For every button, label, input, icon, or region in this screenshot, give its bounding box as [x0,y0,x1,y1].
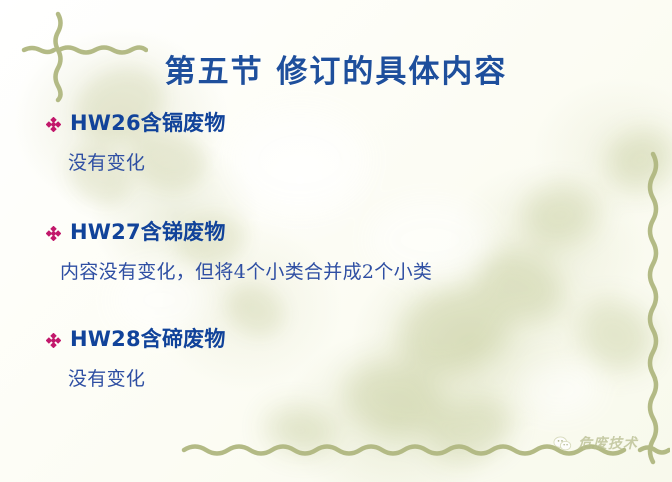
bullet-heading-row: HW28含碲废物 [46,328,632,351]
slide-canvas: 第五节 修订的具体内容 HW26含镉废物 没有变化 [0,0,672,482]
bullet-heading-row: HW26含镉废物 [46,112,632,135]
bullet-detail-text: 内容没有变化，但将4个小类合并成2个小类 [60,257,632,284]
page-title: 第五节 修订的具体内容 [0,46,672,91]
bullet-block-hw27: HW27含锑废物 内容没有变化，但将4个小类合并成2个小类 [46,221,632,284]
bullet-heading-row: HW27含锑废物 [46,221,632,244]
wavy-vertical-border-line [636,150,670,470]
wechat-logo-icon [553,434,572,453]
bullet-block-hw28: HW28含碲废物 没有变化 [46,328,632,391]
diamond-cluster-bullet-icon [46,226,61,241]
wavy-horizontal-border-line [180,438,640,460]
bullet-block-hw26: HW26含镉废物 没有变化 [46,112,632,175]
bullet-detail-text: 没有变化 [68,148,632,175]
diamond-cluster-bullet-icon [46,333,61,348]
bullet-list: HW26含镉废物 没有变化 HW27含锑废物 内容没有变化，但将4个小类合并成2… [46,112,632,391]
bullet-detail-text: 没有变化 [68,364,632,391]
bullet-heading-text: HW28含碲废物 [70,328,226,351]
watermark-text: 危废技术 [578,433,638,453]
diamond-cluster-bullet-icon [46,117,61,132]
bullet-heading-text: HW27含锑废物 [70,221,226,244]
bullet-heading-text: HW26含镉废物 [70,112,226,135]
watermark: 危废技术 [553,433,638,453]
